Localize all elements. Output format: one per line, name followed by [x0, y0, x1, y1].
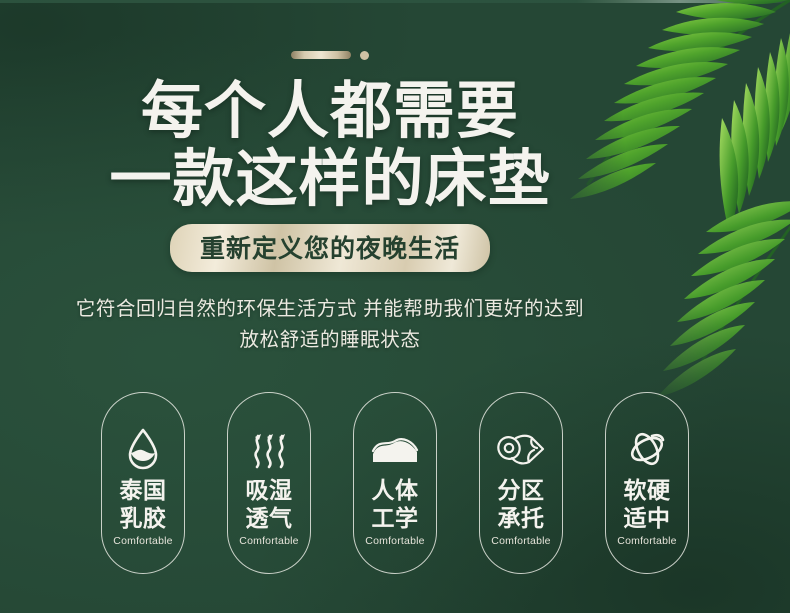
feature-title: 泰国 乳胶	[120, 476, 167, 532]
water-drop-icon	[115, 426, 171, 472]
feature-subtitle: Comfortable	[239, 535, 298, 547]
feature-title: 软硬 适中	[624, 476, 671, 532]
feature-title: 人体 工学	[372, 476, 419, 532]
feature-subtitle: Comfortable	[617, 535, 676, 547]
feature-badge-row: 泰国 乳胶 Comfortable 吸湿 透气	[0, 392, 790, 574]
subtext-line-2: 放松舒适的睡眠状态	[0, 325, 660, 356]
subtext-line-1: 它符合回归自然的环保生活方式 并能帮助我们更好的达到	[0, 294, 660, 325]
mattress-icon	[367, 426, 423, 472]
subtext-block: 它符合回归自然的环保生活方式 并能帮助我们更好的达到 放松舒适的睡眠状态	[0, 294, 660, 356]
tagline-pill-wrapper: 重新定义您的夜晚生活	[0, 224, 660, 272]
feature-badge-medium-firm: 软硬 适中 Comfortable	[605, 392, 689, 574]
gold-dot-icon	[360, 51, 369, 60]
feature-subtitle: Comfortable	[491, 535, 550, 547]
feature-badge-moisture-breathable: 吸湿 透气 Comfortable	[227, 392, 311, 574]
rolled-mattress-icon	[493, 426, 549, 472]
feature-subtitle: Comfortable	[113, 535, 172, 547]
feature-title: 吸湿 透气	[246, 476, 293, 532]
gold-dash-icon	[291, 51, 351, 59]
steam-waves-icon	[241, 426, 297, 472]
feature-badge-ergonomics: 人体 工学 Comfortable	[353, 392, 437, 574]
atom-orbit-icon	[619, 426, 675, 472]
decorative-divider	[0, 48, 660, 62]
hero-section: 每个人都需要 一款这样的床垫 重新定义您的夜晚生活 它符合回归自然的环保生活方式…	[0, 0, 660, 356]
feature-badge-thai-latex: 泰国 乳胶 Comfortable	[101, 392, 185, 574]
headline-line-1: 每个人都需要	[0, 78, 660, 146]
feature-subtitle: Comfortable	[365, 535, 424, 547]
headline-line-2: 一款这样的床垫	[0, 146, 660, 214]
feature-title: 分区 承托	[498, 476, 545, 532]
tagline-pill: 重新定义您的夜晚生活	[170, 224, 490, 272]
promo-banner: 每个人都需要 一款这样的床垫 重新定义您的夜晚生活 它符合回归自然的环保生活方式…	[0, 0, 790, 613]
feature-badge-zoned-support: 分区 承托 Comfortable	[479, 392, 563, 574]
